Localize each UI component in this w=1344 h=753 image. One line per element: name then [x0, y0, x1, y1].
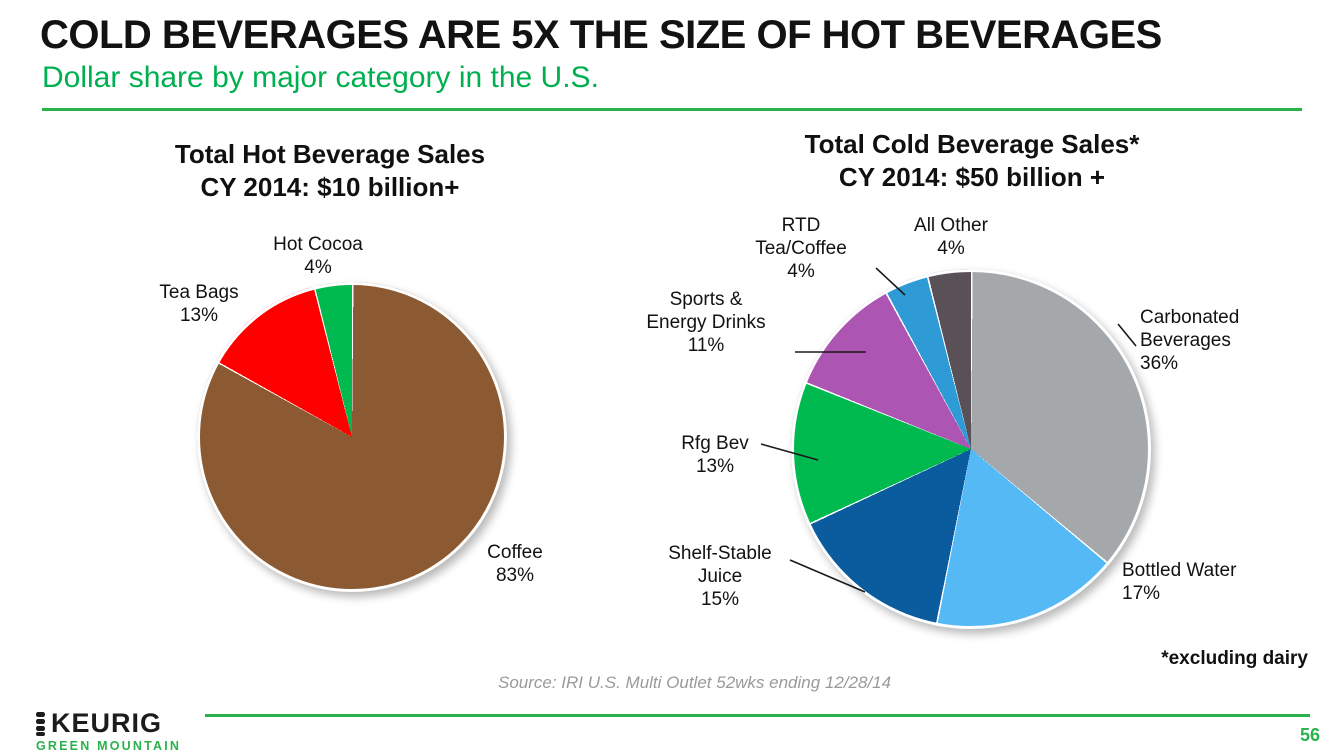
pie-label-rfg-bev: Rfg Bev 13% [660, 432, 770, 478]
leader-lines [0, 0, 1344, 753]
source-note: Source: IRI U.S. Multi Outlet 52wks endi… [498, 673, 891, 693]
pie-label-tea-bags: Tea Bags 13% [139, 281, 259, 327]
cold-chart-title-line1: Total Cold Beverage Sales* [742, 128, 1202, 161]
keurig-green-mountain-logo: KEURIG GREEN MOUNTAIN [36, 710, 181, 753]
pie-label-all-other: All Other 4% [886, 214, 1016, 260]
hot-chart-title-line2: CY 2014: $10 billion+ [130, 171, 530, 204]
hot-chart-title: Total Hot Beverage Sales CY 2014: $10 bi… [130, 138, 530, 203]
cold-chart-title-line2: CY 2014: $50 billion + [742, 161, 1202, 194]
pie-label-shelf-stable-juice: Shelf-Stable Juice 15% [645, 542, 795, 612]
logo-wordmark-text: KEURIG [51, 710, 162, 737]
page-title: COLD BEVERAGES ARE 5X THE SIZE OF HOT BE… [40, 14, 1310, 56]
logo-tagline: GREEN MOUNTAIN [36, 740, 181, 753]
slide: COLD BEVERAGES ARE 5X THE SIZE OF HOT BE… [0, 0, 1344, 753]
pie-label-rtd-tea-coffee: RTD Tea/Coffee 4% [726, 214, 876, 284]
header-divider [42, 108, 1302, 111]
pie-label-hot-cocoa: Hot Cocoa 4% [253, 233, 383, 279]
pie-label-carbonated-beverages: Carbonated Beverages 36% [1140, 306, 1310, 376]
footer-divider [205, 714, 1310, 717]
logo-wordmark: KEURIG [36, 710, 181, 737]
keurig-k-dots-icon [36, 711, 50, 737]
cold-chart-title: Total Cold Beverage Sales* CY 2014: $50 … [742, 128, 1202, 193]
hot-chart-title-line1: Total Hot Beverage Sales [130, 138, 530, 171]
page-number: 56 [1300, 725, 1320, 746]
page-subtitle: Dollar share by major category in the U.… [42, 62, 1242, 94]
pie-label-sports-energy-drinks: Sports & Energy Drinks 11% [617, 288, 795, 358]
leader-line-carbonated [1118, 324, 1136, 346]
cold-beverage-pie-chart [791, 269, 1151, 629]
pie-label-coffee: Coffee 83% [460, 541, 570, 587]
excluding-dairy-note: *excluding dairy [1161, 648, 1308, 670]
pie-label-bottled-water: Bottled Water 17% [1122, 559, 1302, 605]
